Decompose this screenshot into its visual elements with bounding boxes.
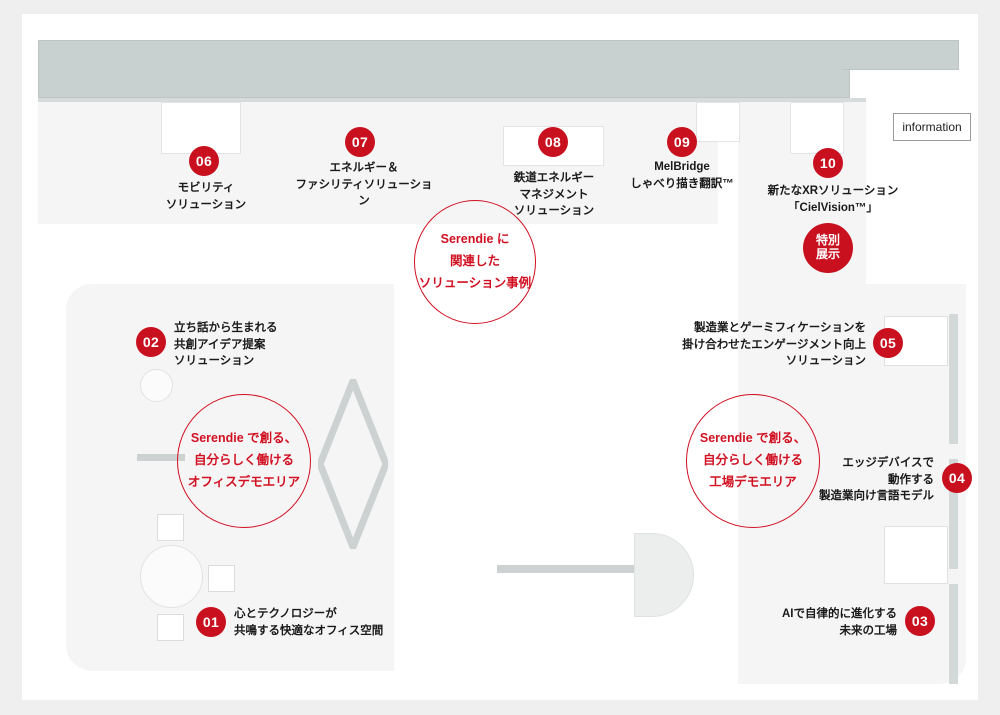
exhibit-caption-07: エネルギー＆ ファシリティソリューション (293, 160, 435, 210)
area-circle-factory-line1: Serendie で創る、 (700, 428, 806, 450)
office-desk-3 (157, 614, 184, 641)
area-circle-office-line1: Serendie で創る、 (191, 428, 297, 450)
office-round-table-small (140, 369, 173, 402)
exhibit-caption-05: 製造業とゲーミフィケーションを 掛け合わせたエンゲージメント向上 ソリューション (644, 320, 866, 370)
center-d-structure (634, 533, 694, 617)
exhibit-caption-04: エッジデバイスで 動作する 製造業向け言語モデル (762, 455, 934, 505)
center-partition-bar (497, 565, 642, 573)
area-circle-office-line2: 自分らしく働ける (194, 450, 294, 472)
exhibit-caption-01: 心とテクノロジーが 共鳴する快適なオフィス空間 (234, 606, 414, 639)
exhibit-caption-09: MelBridge しゃべり描き翻訳™ (614, 159, 750, 192)
exhibit-caption-06: モビリティ ソリューション (136, 180, 276, 213)
area-circle-office: Serendie で創る、 自分らしく働ける オフィスデモエリア (177, 394, 311, 528)
exhibit-badge-09[interactable]: 09 (667, 127, 697, 157)
office-diamond-partition (318, 379, 388, 549)
exhibit-badge-04[interactable]: 04 (942, 463, 972, 493)
exhibit-badge-01[interactable]: 01 (196, 607, 226, 637)
office-desk-2 (208, 565, 235, 592)
booth-box-10 (790, 102, 844, 154)
office-desk-1 (157, 514, 184, 541)
exhibit-badge-02[interactable]: 02 (136, 327, 166, 357)
exhibit-badge-06[interactable]: 06 (189, 146, 219, 176)
factory-wall-3 (949, 584, 958, 684)
exhibit-badge-05[interactable]: 05 (873, 328, 903, 358)
special-exhibit-badge[interactable]: 特別 展示 (803, 223, 853, 273)
exhibit-caption-03: AIで自律的に進化する 未来の工場 (722, 606, 897, 639)
special-exhibit-line2: 展示 (816, 248, 840, 262)
area-circle-solutions-line2: 関連した (450, 251, 500, 273)
corridor-wall-wing (842, 40, 959, 70)
exhibit-caption-08: 鉄道エネルギー マネジメント ソリューション (493, 170, 615, 220)
information-box[interactable]: information (893, 113, 971, 141)
floor-map-page: information Serendie に 関連した ソリューション事例 (0, 0, 1000, 715)
booth-box-09 (696, 102, 740, 142)
exhibit-badge-08[interactable]: 08 (538, 127, 568, 157)
area-circle-office-line3: オフィスデモエリア (188, 472, 300, 494)
floor-map-canvas: information Serendie に 関連した ソリューション事例 (22, 14, 978, 700)
exhibit-caption-02: 立ち話から生まれる 共創アイデア提案 ソリューション (174, 320, 354, 370)
exhibit-badge-07[interactable]: 07 (345, 127, 375, 157)
area-circle-solutions-line1: Serendie に (441, 229, 510, 251)
office-round-table-large (140, 545, 203, 608)
corridor-wall-main (38, 40, 850, 98)
factory-wall-1 (949, 314, 958, 444)
exhibit-badge-03[interactable]: 03 (905, 606, 935, 636)
special-exhibit-line1: 特別 (816, 234, 840, 248)
factory-booth-box-03 (884, 526, 948, 584)
exhibit-caption-10: 新たなXRソリューション 「CielVision™」 (736, 183, 930, 216)
exhibit-badge-10[interactable]: 10 (813, 148, 843, 178)
area-circle-solutions-line3: ソリューション事例 (419, 273, 531, 295)
